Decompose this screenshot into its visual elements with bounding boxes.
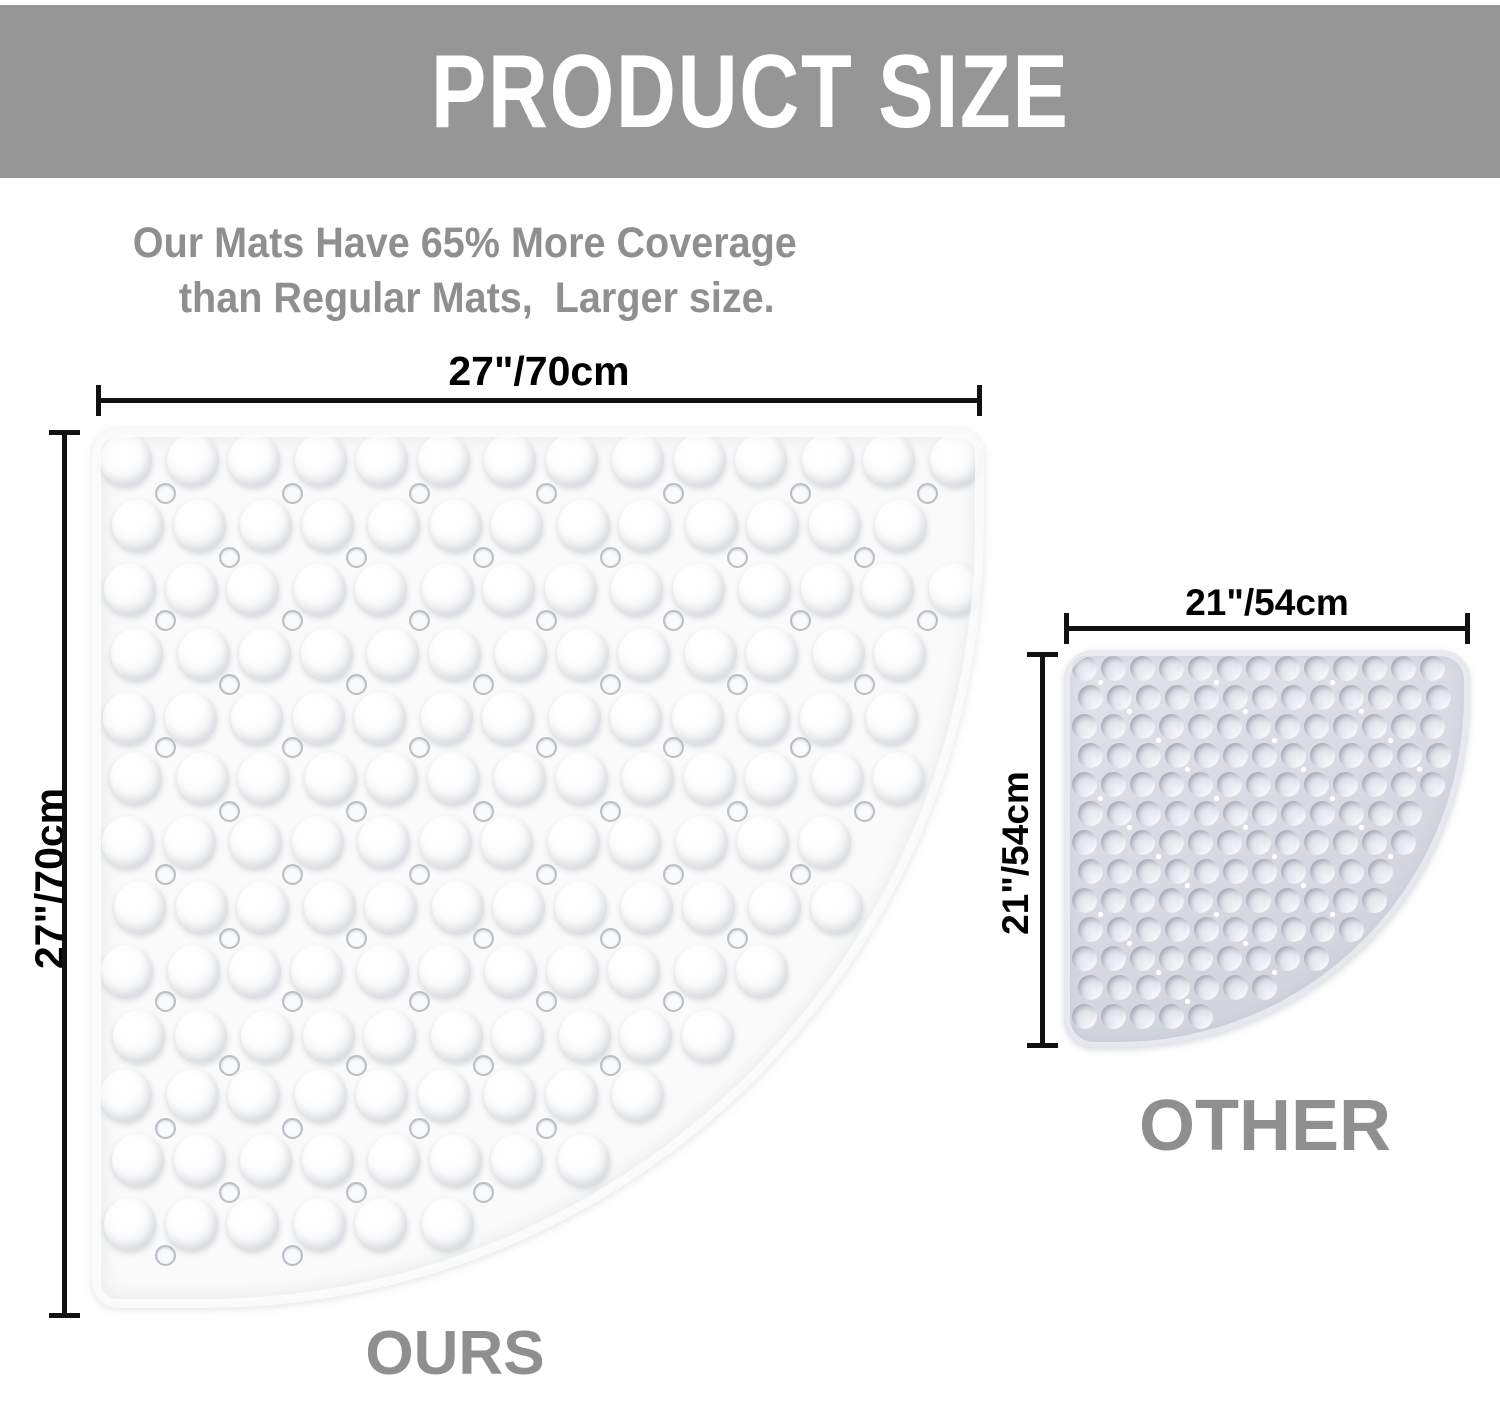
mat-bump <box>176 881 228 933</box>
mat-bump <box>104 563 156 615</box>
mat-drain-hole <box>219 1182 240 1203</box>
other-mat-bump <box>1159 656 1184 681</box>
other-mat-bump <box>1130 888 1155 913</box>
other-mat-bump <box>1159 772 1184 797</box>
mat-bump <box>166 563 218 615</box>
mat-bump <box>546 434 598 486</box>
mat-bump <box>548 816 600 868</box>
mat-bump <box>365 881 417 933</box>
mat-bump <box>491 1134 543 1186</box>
other-mat-bump <box>1368 685 1393 710</box>
ours-width-label: 27"/70cm <box>96 348 982 395</box>
mat-drain-hole <box>155 1118 176 1139</box>
other-mat-bump <box>1420 656 1445 681</box>
mat-drain-hole <box>473 1182 494 1203</box>
mat-bump <box>422 563 474 615</box>
other-mat-bump <box>1246 888 1271 913</box>
ours-height-dimension-line <box>62 430 67 1318</box>
other-mat-bump <box>1281 685 1306 710</box>
mat-bump <box>368 1134 420 1186</box>
mat-bump <box>354 692 406 744</box>
mat-bump <box>811 881 863 933</box>
other-mat-bump <box>1194 859 1219 884</box>
mat-bump <box>293 692 345 744</box>
mat-bump <box>484 1069 536 1121</box>
mat-bump <box>801 563 853 615</box>
other-mat-bump <box>1217 656 1242 681</box>
mat-bump <box>419 945 471 997</box>
mat-drain-hole <box>790 864 811 885</box>
mat-bump <box>812 752 864 804</box>
mat-bump <box>558 1134 610 1186</box>
other-mat-bump <box>1072 772 1097 797</box>
mat-drain-hole <box>854 547 875 568</box>
mat-bump <box>112 1134 164 1186</box>
mat-bump <box>482 692 534 744</box>
other-mat-bump <box>1072 830 1097 855</box>
other-mat-bump <box>1101 1004 1126 1029</box>
other-mat-bump <box>1130 772 1155 797</box>
mat-bump <box>167 434 219 486</box>
other-mat-bump <box>1078 859 1103 884</box>
other-mat-bump <box>1188 714 1213 739</box>
other-mat-bump <box>1304 946 1329 971</box>
mat-bump <box>291 945 343 997</box>
other-mat-bump <box>1165 685 1190 710</box>
mat-bump <box>739 563 791 615</box>
other-mat-bump <box>1310 685 1335 710</box>
mat-bump <box>485 945 537 997</box>
mat-drain-hole <box>727 928 748 949</box>
other-mat-bump <box>1252 685 1277 710</box>
other-mat-bump <box>1159 830 1184 855</box>
mat-bump <box>358 816 410 868</box>
mat-drain-hole <box>409 737 430 758</box>
other-mat-bump <box>1252 859 1277 884</box>
other-mat-bump <box>1310 743 1335 768</box>
mat-drain-hole <box>346 801 367 822</box>
mat-bump <box>546 1069 598 1121</box>
other-mat-bump <box>1072 1004 1097 1029</box>
other-mat-bump <box>1107 975 1132 1000</box>
mat-drain-hole <box>219 674 240 695</box>
mat-bump <box>174 1134 226 1186</box>
mat-drain-hole <box>346 674 367 695</box>
mat-bump <box>366 752 418 804</box>
mat-bump <box>555 881 607 933</box>
mat-bump <box>875 499 927 551</box>
other-mat-drain-dot <box>1127 709 1132 714</box>
mat-drain-hole <box>155 864 176 885</box>
mat-bump <box>863 434 915 486</box>
other-mat-bump <box>1362 888 1387 913</box>
other-mat-drain-dot <box>1098 912 1103 917</box>
subtitle-line-1: Our Mats Have 65% More Coverage <box>60 216 870 271</box>
mat-bump <box>428 752 480 804</box>
other-mat-bump <box>1165 743 1190 768</box>
mat-bump <box>483 563 535 615</box>
other-mat-bump <box>1188 772 1213 797</box>
other-mat-drain-dot <box>1098 680 1103 685</box>
mat-bump <box>231 692 283 744</box>
other-mat-bump <box>1078 801 1103 826</box>
other-width-label: 21"/54cm <box>1064 582 1470 624</box>
other-mat-bump <box>1310 917 1335 942</box>
mat-drain-hole <box>854 801 875 822</box>
mat-bump <box>558 499 610 551</box>
mat-bump <box>549 692 601 744</box>
mat-drain-hole <box>536 483 557 504</box>
other-mat-bump <box>1362 830 1387 855</box>
other-mat-drain-dot <box>1243 941 1248 946</box>
mat-bump <box>238 752 290 804</box>
other-mat-drain-dot <box>1185 999 1190 1004</box>
mat-drain-hole <box>473 928 494 949</box>
other-mat-drain-dot <box>1330 796 1335 801</box>
other-mat-drain-dot <box>1127 825 1132 830</box>
other-mat-bump <box>1130 830 1155 855</box>
other-mat-bump <box>1420 772 1445 797</box>
mat-bump <box>104 1198 156 1250</box>
other-mat-bump <box>1362 714 1387 739</box>
mat-bump <box>545 563 597 615</box>
other-mat-bump <box>1101 888 1126 913</box>
other-mat-bump <box>1275 656 1300 681</box>
mat-drain-hole <box>219 928 240 949</box>
other-mat-bump <box>1333 888 1358 913</box>
mat-bump <box>609 816 661 868</box>
mat-drain-hole <box>219 1055 240 1076</box>
mat-bump <box>114 881 166 933</box>
mat-drain-hole <box>155 610 176 631</box>
mat-bump <box>165 692 217 744</box>
other-mat-bump <box>1101 656 1126 681</box>
header-band: PRODUCT SIZE <box>0 5 1500 178</box>
other-mat-drain-dot <box>1388 738 1393 743</box>
other-mat-bump <box>1339 859 1364 884</box>
other-width-dimension-line <box>1064 626 1470 631</box>
mat-bump <box>873 752 925 804</box>
mat-bump <box>672 692 724 744</box>
other-mat-drain-dot <box>1301 767 1306 772</box>
other-mat-drain-dot <box>1098 796 1103 801</box>
other-mat-bump <box>1333 772 1358 797</box>
other-mat-bump <box>1362 772 1387 797</box>
mat-bump <box>683 881 735 933</box>
other-mat-bump <box>1304 772 1329 797</box>
mat-drain-hole <box>282 991 303 1012</box>
subtitle-text: Our Mats Have 65% More Coverage than Reg… <box>60 216 870 326</box>
other-mat-bump <box>1165 859 1190 884</box>
mat-bump <box>164 816 216 868</box>
other-mat-bump <box>1217 888 1242 913</box>
other-mat-drain-dot <box>1156 738 1161 743</box>
other-mat-bump <box>1252 801 1277 826</box>
mat-drain-hole <box>473 1055 494 1076</box>
mat-bump <box>292 816 344 868</box>
mat-bump <box>676 816 728 868</box>
other-mat-bump <box>1101 946 1126 971</box>
mat-bump <box>749 881 801 933</box>
other-mat-bump <box>1072 888 1097 913</box>
other-mat-bump <box>1078 743 1103 768</box>
other-mat-bump <box>1275 772 1300 797</box>
mat-drain-hole <box>917 483 938 504</box>
other-mat-bump <box>1426 743 1451 768</box>
other-mat-bump <box>1194 975 1219 1000</box>
other-mat-bump <box>1333 830 1358 855</box>
mat-bump <box>802 434 854 486</box>
other-mat-bump <box>1130 1004 1155 1029</box>
other-mat-bump <box>1159 888 1184 913</box>
other-mat-drain-dot <box>1214 912 1219 917</box>
other-mat-bump <box>1078 685 1103 710</box>
other-height-label: 21"/54cm <box>995 733 1037 973</box>
mat-bump <box>432 881 484 933</box>
page-title: PRODUCT SIZE <box>431 40 1070 144</box>
mat-drain-hole <box>790 610 811 631</box>
other-mat-bump <box>1159 714 1184 739</box>
mat-bump <box>301 628 353 680</box>
mat-bump <box>100 1069 152 1121</box>
mat-bump <box>682 1010 734 1062</box>
other-mat-bump <box>1391 772 1416 797</box>
mat-bump <box>422 1198 474 1250</box>
other-mat-bump <box>1310 801 1335 826</box>
other-mat-bump <box>1165 801 1190 826</box>
mat-drain-hole <box>536 610 557 631</box>
mat-bump <box>736 945 788 997</box>
other-mat-bump <box>1072 946 1097 971</box>
other-mat-bump <box>1217 772 1242 797</box>
other-mat-bump <box>1397 743 1422 768</box>
mat-bump <box>495 628 547 680</box>
other-mat-bump <box>1136 801 1161 826</box>
mat-bump <box>673 563 725 615</box>
mat-bump <box>675 945 727 997</box>
other-mat-bump <box>1101 714 1126 739</box>
ours-width-dimension-line <box>96 398 982 403</box>
other-mat-bump <box>1159 1004 1184 1029</box>
other-mat-bump <box>1217 830 1242 855</box>
ours-caption: OURS <box>255 1318 655 1389</box>
other-mat-drain-dot <box>1359 825 1364 830</box>
mat-drain-hole <box>536 1118 557 1139</box>
mat-bump <box>610 692 662 744</box>
other-mat-bump <box>1165 975 1190 1000</box>
other-mat-bump <box>1246 946 1271 971</box>
mat-drain-hole <box>663 864 684 885</box>
mat-bump <box>294 1198 346 1250</box>
mat-drain-hole <box>473 674 494 695</box>
other-mat-bump <box>1217 946 1242 971</box>
other-mat-bump <box>1310 859 1335 884</box>
other-mat-bump <box>1333 714 1358 739</box>
mat-drain-hole <box>663 737 684 758</box>
mat-bump <box>355 563 407 615</box>
other-mat-bump <box>1339 801 1364 826</box>
mat-bump <box>178 628 230 680</box>
other-mat-bump <box>1275 830 1300 855</box>
mat-drain-hole <box>473 547 494 568</box>
mat-bump <box>620 1010 672 1062</box>
other-mat-drain-dot <box>1185 767 1190 772</box>
mat-drain-hole <box>219 801 240 822</box>
mat-drain-hole <box>600 674 621 695</box>
mat-drain-hole <box>473 801 494 822</box>
other-mat-bump <box>1246 714 1271 739</box>
mat-bump <box>101 945 153 997</box>
mat-bump <box>559 1010 611 1062</box>
mat-bump <box>420 816 472 868</box>
mat-drain-hole <box>727 674 748 695</box>
other-mat-bump <box>1078 975 1103 1000</box>
other-mat-drain-dot <box>1417 767 1422 772</box>
other-mat-bump <box>1130 946 1155 971</box>
mat-bump <box>481 816 533 868</box>
mat-drain-hole <box>409 864 430 885</box>
other-mat-drain-dot <box>1272 738 1277 743</box>
other-mat-bump <box>1188 830 1213 855</box>
mat-drain-hole <box>536 737 557 758</box>
mat-bump <box>356 434 408 486</box>
mat-drain-hole <box>409 483 430 504</box>
mat-bump <box>241 1010 293 1062</box>
mat-drain-hole <box>282 737 303 758</box>
other-mat-bump <box>1339 917 1364 942</box>
other-mat-bump <box>1188 1004 1213 1029</box>
other-mat-bump <box>1223 917 1248 942</box>
mat-bump <box>622 752 674 804</box>
other-mat-bump <box>1072 714 1097 739</box>
other-mat-bump <box>1304 888 1329 913</box>
other-caption: OTHER <box>1065 1085 1465 1167</box>
mat-bump <box>228 1069 280 1121</box>
mat-bump <box>674 434 726 486</box>
other-mat-bump <box>1333 656 1358 681</box>
mat-bump <box>745 752 797 804</box>
other-mat-drain-dot <box>1359 709 1364 714</box>
other-mat-bump <box>1281 917 1306 942</box>
other-mat-drain-dot <box>1301 883 1306 888</box>
other-mat-drain-dot <box>1272 854 1277 859</box>
mat-bump <box>686 499 738 551</box>
other-mat-bump <box>1107 743 1132 768</box>
mat-bump <box>746 628 798 680</box>
other-mat-bump <box>1107 917 1132 942</box>
mat-drain-hole <box>727 801 748 822</box>
mat-bump <box>547 945 599 997</box>
other-mat-bump <box>1107 685 1132 710</box>
mat-bump <box>177 752 229 804</box>
other-mat-bump <box>1188 946 1213 971</box>
other-mat-drain-dot <box>1127 941 1132 946</box>
other-mat-bump <box>1362 656 1387 681</box>
other-mat-bump <box>1391 656 1416 681</box>
mat-bump <box>418 1069 470 1121</box>
mat-drain-hole <box>282 610 303 631</box>
mat-bump <box>866 692 918 744</box>
mat-drain-hole <box>536 991 557 1012</box>
mat-drain-hole <box>282 1118 303 1139</box>
mat-drain-hole <box>409 610 430 631</box>
other-mat-bump <box>1246 772 1271 797</box>
other-mat-bump <box>1194 917 1219 942</box>
mat-drain-hole <box>536 864 557 885</box>
mat-drain-hole <box>346 547 367 568</box>
mat-drain-hole <box>155 483 176 504</box>
other-mat-drain-dot <box>1243 709 1248 714</box>
mat-bump <box>100 434 152 486</box>
other-mat-bump <box>1391 714 1416 739</box>
mat-drain-hole <box>663 610 684 631</box>
mat-bump <box>556 752 608 804</box>
mat-bump <box>111 628 163 680</box>
mat-drain-hole <box>790 737 811 758</box>
mat-bump <box>429 628 481 680</box>
mat-drain-hole <box>663 483 684 504</box>
mat-bump <box>168 945 220 997</box>
mat-drain-hole <box>663 991 684 1012</box>
mat-bump <box>430 1134 482 1186</box>
other-mat-bump <box>1368 859 1393 884</box>
other-mat-drain-dot <box>1214 796 1219 801</box>
other-mat-drain-dot <box>1330 680 1335 685</box>
other-mat-bump <box>1165 917 1190 942</box>
other-mat-bump <box>1136 859 1161 884</box>
mat-bump <box>813 628 865 680</box>
other-mat-bump <box>1130 714 1155 739</box>
mat-bump <box>237 881 289 933</box>
mat-bump <box>685 628 737 680</box>
other-mat-bump <box>1275 946 1300 971</box>
other-mat-bump <box>1304 714 1329 739</box>
mat-bump <box>302 1134 354 1186</box>
mat-bump <box>228 434 280 486</box>
mat-bump <box>166 1198 218 1250</box>
mat-bump <box>612 434 664 486</box>
mat-bump <box>421 692 473 744</box>
mat-bump <box>619 499 671 551</box>
other-mat-bump <box>1339 685 1364 710</box>
mat-drain-hole <box>917 610 938 631</box>
other-mat-bump <box>1101 772 1126 797</box>
mat-bump <box>357 945 409 997</box>
other-mat-drain-dot <box>1272 970 1277 975</box>
other-mat-bump <box>1391 830 1416 855</box>
mat-bump <box>304 881 356 933</box>
mat-bump <box>618 628 670 680</box>
mat-bump <box>684 752 736 804</box>
other-mat-bump <box>1420 714 1445 739</box>
mat-bump <box>229 945 281 997</box>
mat-drain-hole <box>155 991 176 1012</box>
other-mat-bump <box>1217 714 1242 739</box>
mat-bump <box>492 1010 544 1062</box>
mat-bump <box>227 563 279 615</box>
other-mat-bump <box>1194 801 1219 826</box>
mat-bump <box>491 499 543 551</box>
other-mat-bump <box>1223 743 1248 768</box>
mat-drain-hole <box>600 547 621 568</box>
mat-bump <box>735 434 787 486</box>
other-mat-bump <box>1072 656 1097 681</box>
other-height-dimension-line <box>1040 652 1045 1048</box>
mat-bump <box>809 499 861 551</box>
other-mat-drain-dot <box>1388 854 1393 859</box>
other-mat-bump <box>1397 685 1422 710</box>
mat-bump <box>167 1069 219 1121</box>
